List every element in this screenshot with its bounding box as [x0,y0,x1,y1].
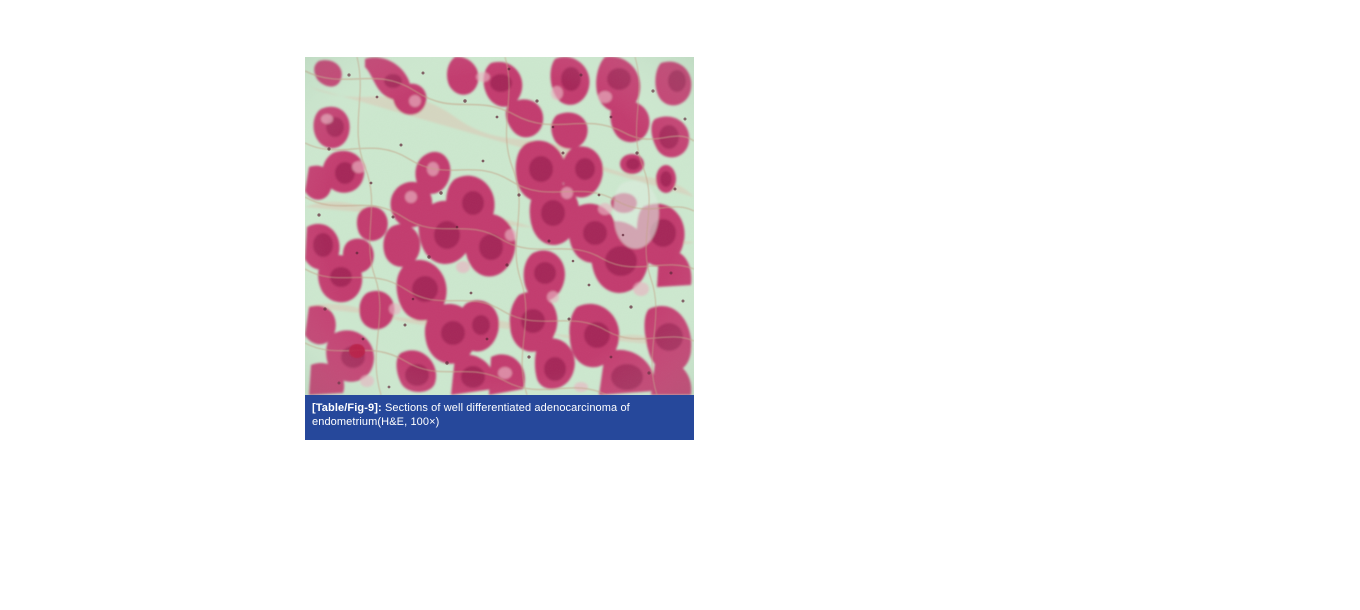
figure-block: [Table/Fig-9]: Sections of well differen… [305,57,694,440]
figure-caption: [Table/Fig-9]: Sections of well differen… [305,395,694,440]
histology-micrograph-image [305,57,694,395]
micrograph-svg [305,57,694,395]
figure-caption-label: [Table/Fig-9]: [312,402,382,414]
